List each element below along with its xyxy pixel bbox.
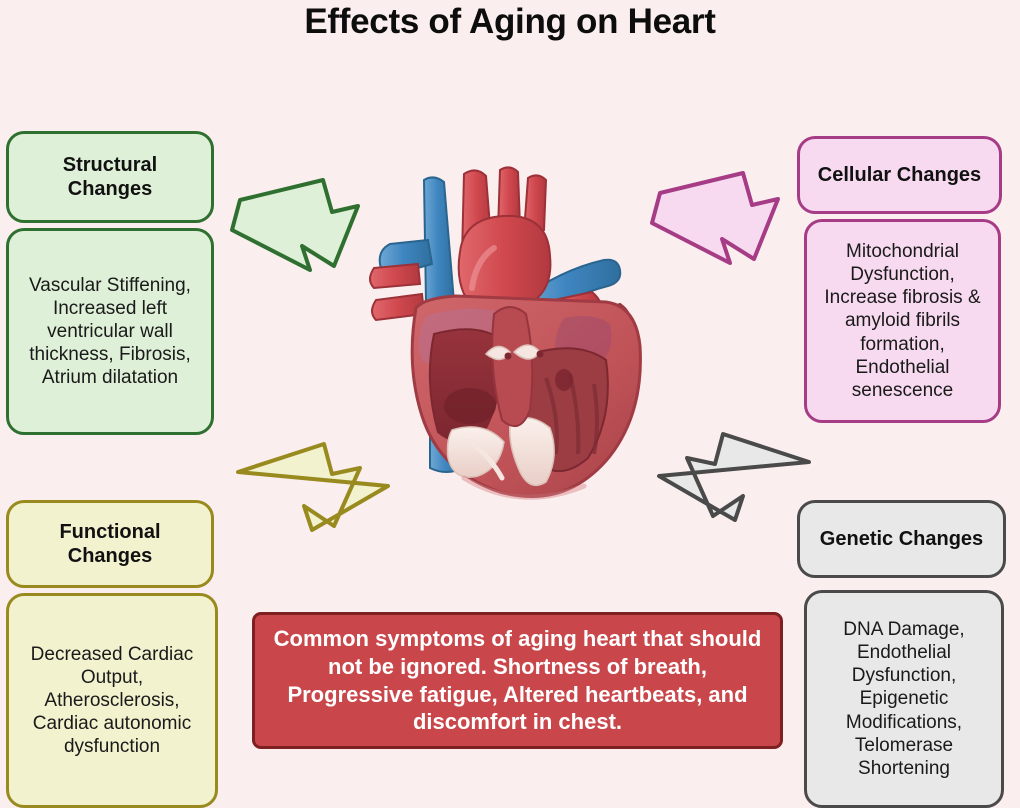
page-title: Effects of Aging on Heart: [0, 2, 1020, 42]
structural-changes-heading-text: Structural Changes: [19, 153, 201, 202]
structural-changes-body-text: Vascular Stiffening, Increased left vent…: [17, 274, 203, 390]
functional-changes-body-text: Decreased Cardiac Output, Atherosclerosi…: [17, 643, 207, 759]
cellular-changes-heading-text: Cellular Changes: [818, 163, 981, 187]
functional-changes-heading-text: Functional Changes: [19, 520, 201, 569]
structural-changes-body-card[interactable]: Vascular Stiffening, Increased left vent…: [6, 228, 214, 435]
cellular-changes-heading-card[interactable]: Cellular Changes: [797, 136, 1002, 214]
symptom-banner[interactable]: Common symptoms of aging heart that shou…: [252, 612, 783, 749]
arrow-structural-to-heart: [228, 168, 380, 272]
cellular-changes-body-card[interactable]: Mitochondrial Dysfunction, Increase fibr…: [804, 219, 1001, 423]
genetic-changes-heading-card[interactable]: Genetic Changes: [797, 500, 1006, 578]
diagram-canvas: Effects of Aging on Heart Structural Cha…: [0, 0, 1020, 808]
interventricular-septum: [492, 307, 532, 426]
anatomical-heart-illustration: [368, 148, 658, 548]
arrow-genetic-to-heart: [653, 418, 819, 522]
genetic-changes-body-text: DNA Damage, Endothelial Dysfunction, Epi…: [815, 618, 993, 780]
structural-changes-heading-card[interactable]: Structural Changes: [6, 131, 214, 223]
genetic-changes-heading-text: Genetic Changes: [820, 527, 983, 551]
cellular-changes-body-text: Mitochondrial Dysfunction, Increase fibr…: [815, 240, 990, 402]
symptom-banner-text: Common symptoms of aging heart that shou…: [271, 625, 764, 736]
functional-changes-heading-card[interactable]: Functional Changes: [6, 500, 214, 588]
genetic-changes-body-card[interactable]: DNA Damage, Endothelial Dysfunction, Epi…: [804, 590, 1004, 808]
functional-changes-body-card[interactable]: Decreased Cardiac Output, Atherosclerosi…: [6, 593, 218, 808]
arrow-cellular-to-heart: [648, 163, 800, 267]
